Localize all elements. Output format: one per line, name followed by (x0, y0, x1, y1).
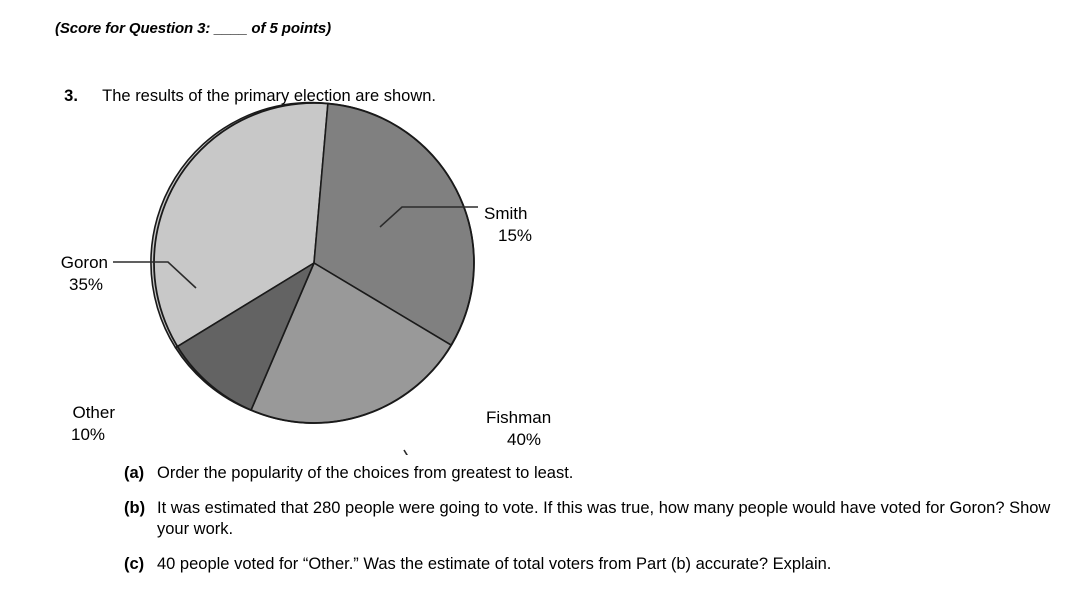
subquestion-b: (b) It was estimated that 280 people wer… (124, 498, 1054, 540)
subquestion-a-marker: (a) (124, 463, 157, 484)
pie-label-smith-name: Smith (484, 204, 527, 223)
pie-chart-svg: Smith 15% Goron 35% Fishman 40% Other 10… (0, 95, 640, 455)
subquestion-a: (a) Order the popularity of the choices … (124, 463, 1054, 484)
pie-label-goron-percent: 35% (69, 275, 103, 294)
pie-label-fishman-percent: 40% (507, 430, 541, 449)
pie-label-smith-percent: 15% (498, 226, 532, 245)
subquestion-a-text: Order the popularity of the choices from… (157, 463, 1054, 484)
subquestion-list: (a) Order the popularity of the choices … (124, 463, 1054, 589)
pie-label-other-name: Other (72, 403, 115, 422)
pie-label-goron-name: Goron (61, 253, 108, 272)
subquestion-c-marker: (c) (124, 554, 157, 575)
subquestion-c: (c) 40 people voted for “Other.” Was the… (124, 554, 1054, 575)
pie-label-other-percent: 10% (71, 425, 105, 444)
subquestion-b-marker: (b) (124, 498, 157, 519)
subquestion-c-text: 40 people voted for “Other.” Was the est… (157, 554, 1054, 575)
score-line: (Score for Question 3: ____ of 5 points) (55, 20, 331, 37)
subquestion-b-text: It was estimated that 280 people were go… (157, 498, 1054, 540)
pie-chart-figure: Smith 15% Goron 35% Fishman 40% Other 10… (0, 95, 640, 455)
pie-label-fishman-name: Fishman (486, 408, 551, 427)
leader-line-fishman (404, 450, 480, 455)
